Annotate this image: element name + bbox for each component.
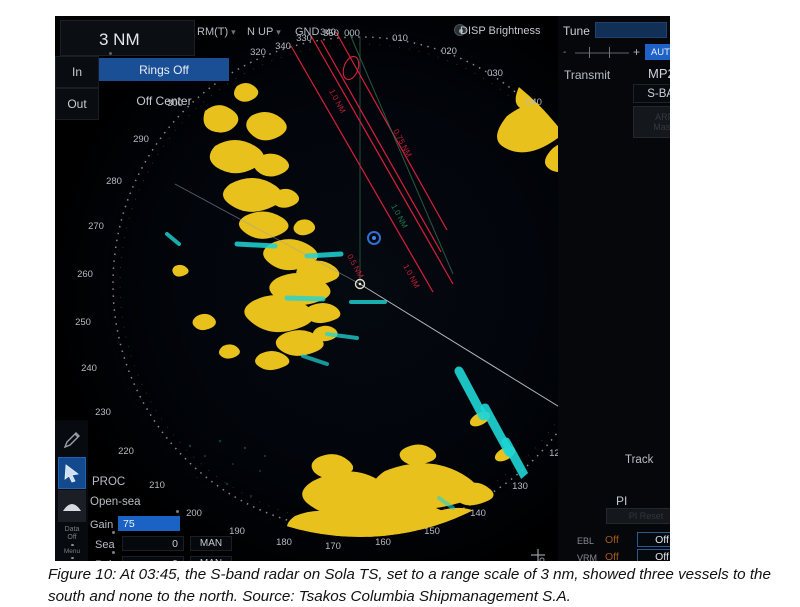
menu-dot-icon bbox=[71, 544, 74, 546]
svg-text:240: 240 bbox=[81, 363, 97, 374]
range-in-button[interactable]: In bbox=[55, 56, 99, 88]
arpa-master-line2: Master bbox=[653, 122, 670, 132]
off-center-button[interactable]: Off Center bbox=[99, 90, 229, 112]
svg-text:280: 280 bbox=[106, 176, 122, 187]
pen-tool-icon[interactable] bbox=[58, 424, 86, 456]
sea-marker-dot bbox=[112, 531, 115, 534]
ebl-name: EBL bbox=[577, 536, 594, 546]
gain-row: Gain 75 bbox=[90, 516, 265, 533]
svg-text:320: 320 bbox=[250, 47, 266, 58]
zone-shape-icon[interactable] bbox=[58, 490, 86, 522]
svg-text:230: 230 bbox=[95, 407, 111, 418]
svg-text:160: 160 bbox=[375, 537, 391, 548]
mode-ground-stab[interactable]: GND▾ bbox=[295, 26, 327, 38]
proc-label[interactable]: PROC bbox=[92, 476, 125, 488]
ebl-state[interactable]: Off bbox=[637, 532, 670, 547]
tune-minus-button[interactable]: - bbox=[563, 47, 566, 58]
range-indicator-dot bbox=[109, 52, 112, 55]
range-value: 3 NM bbox=[99, 30, 140, 50]
sea-value[interactable]: 0 bbox=[122, 536, 184, 551]
arpa-master-line1: ARPA bbox=[655, 112, 670, 122]
svg-text:140: 140 bbox=[470, 508, 486, 519]
pi-reset-button[interactable]: PI Reset bbox=[606, 508, 670, 524]
mode-rm-label: RM(T) bbox=[197, 26, 228, 38]
data-off-line2: Off bbox=[67, 534, 76, 542]
rings-off-button[interactable]: Rings Off bbox=[99, 58, 229, 81]
mode-north-up[interactable]: N UP▾ bbox=[247, 26, 281, 38]
disp-brightness-label[interactable]: DISP Brightness bbox=[460, 25, 541, 37]
svg-text:210: 210 bbox=[149, 480, 165, 491]
sea-label: Sea bbox=[95, 539, 115, 551]
vrm-row: VRM Off Off NM bbox=[527, 549, 670, 561]
svg-text:220: 220 bbox=[118, 446, 134, 457]
tune-slider[interactable]: - + AUTO bbox=[563, 44, 667, 61]
gain-marker-dot bbox=[176, 510, 179, 513]
svg-text:030: 030 bbox=[487, 68, 503, 79]
tune-label: Tune bbox=[563, 24, 590, 38]
ebl-value[interactable]: Off bbox=[605, 534, 619, 546]
svg-text:180: 180 bbox=[276, 537, 292, 548]
mode-nup-label: N UP bbox=[247, 26, 273, 38]
arpa-master-button[interactable]: ARPA Master bbox=[633, 106, 670, 138]
chevron-down-icon: ▾ bbox=[276, 27, 281, 37]
tune-level-bar[interactable] bbox=[595, 22, 667, 38]
transmit-label[interactable]: Transmit bbox=[564, 68, 610, 82]
band-indicator: S-BAND bbox=[633, 84, 670, 103]
tune-auto-button[interactable]: AUTO bbox=[645, 44, 670, 60]
gain-label: Gain bbox=[90, 519, 113, 531]
svg-text:000: 000 bbox=[344, 28, 360, 39]
mode-gnd-label: GND bbox=[295, 26, 319, 38]
tool-icon-strip: Data Off Menu bbox=[55, 420, 88, 561]
vrm-value[interactable]: Off bbox=[605, 551, 619, 561]
tune-plus-button[interactable]: + bbox=[633, 45, 640, 59]
menu-label: Menu bbox=[64, 548, 80, 555]
rain-label: Rain bbox=[95, 559, 118, 561]
radar-display: 1.0 NM 0.75 NM 0.5 NM 1.0 NM 1.0 NM 000 … bbox=[55, 16, 670, 561]
menu-button[interactable]: Menu bbox=[57, 544, 87, 561]
vrm-name: VRM bbox=[577, 553, 597, 561]
svg-text:290: 290 bbox=[133, 134, 149, 145]
rain-marker-dot bbox=[112, 551, 115, 554]
svg-text:170: 170 bbox=[325, 541, 341, 552]
range-scale-box[interactable]: 3 NM bbox=[60, 20, 195, 56]
tune-slider-handle[interactable] bbox=[589, 47, 590, 58]
gain-value[interactable]: 75 bbox=[118, 516, 180, 531]
pi-label-heading: PI bbox=[616, 494, 627, 508]
chevron-down-icon: ▾ bbox=[231, 27, 236, 37]
svg-text:010: 010 bbox=[392, 33, 408, 44]
menu-dot-icon-2 bbox=[71, 557, 74, 559]
tune-slider-tick bbox=[609, 47, 610, 58]
pulse-length-label[interactable]: MP2 bbox=[648, 66, 670, 81]
svg-text:020: 020 bbox=[441, 46, 457, 57]
svg-text:260: 260 bbox=[77, 269, 93, 280]
sea-row: Sea 0 MAN bbox=[90, 536, 265, 553]
range-out-button[interactable]: Out bbox=[55, 88, 99, 120]
mode-rm-true[interactable]: RM(T)▾ bbox=[197, 26, 236, 38]
ebl-vrm-panel: EBL Off Off ° T VRM Off Off NM bbox=[527, 532, 670, 561]
tune-slider-track[interactable] bbox=[575, 52, 629, 54]
svg-text:150: 150 bbox=[424, 526, 440, 537]
rain-value[interactable]: 0 bbox=[122, 556, 184, 561]
svg-text:130: 130 bbox=[512, 481, 528, 492]
cursor-tool-icon[interactable] bbox=[58, 457, 86, 489]
bearing-340: 340 bbox=[275, 41, 291, 52]
rain-mode[interactable]: MAN bbox=[190, 556, 232, 561]
svg-text:250: 250 bbox=[75, 317, 91, 328]
data-off-button[interactable]: Data Off bbox=[57, 524, 87, 544]
figure-caption: Figure 10: At 03:45, the S-band radar on… bbox=[48, 564, 790, 607]
svg-text:270: 270 bbox=[88, 221, 104, 232]
svg-text:040: 040 bbox=[526, 97, 542, 108]
data-off-line1: Data bbox=[65, 526, 80, 534]
sea-mode[interactable]: MAN bbox=[190, 536, 232, 551]
ebl-row: EBL Off Off ° T bbox=[527, 532, 670, 548]
chevron-down-icon: ▾ bbox=[322, 27, 327, 37]
track-label[interactable]: Track bbox=[625, 454, 653, 466]
rain-row: Rain 0 MAN bbox=[90, 556, 265, 561]
sea-state-mode[interactable]: Open-sea bbox=[90, 496, 141, 508]
vrm-state[interactable]: Off bbox=[637, 549, 670, 561]
